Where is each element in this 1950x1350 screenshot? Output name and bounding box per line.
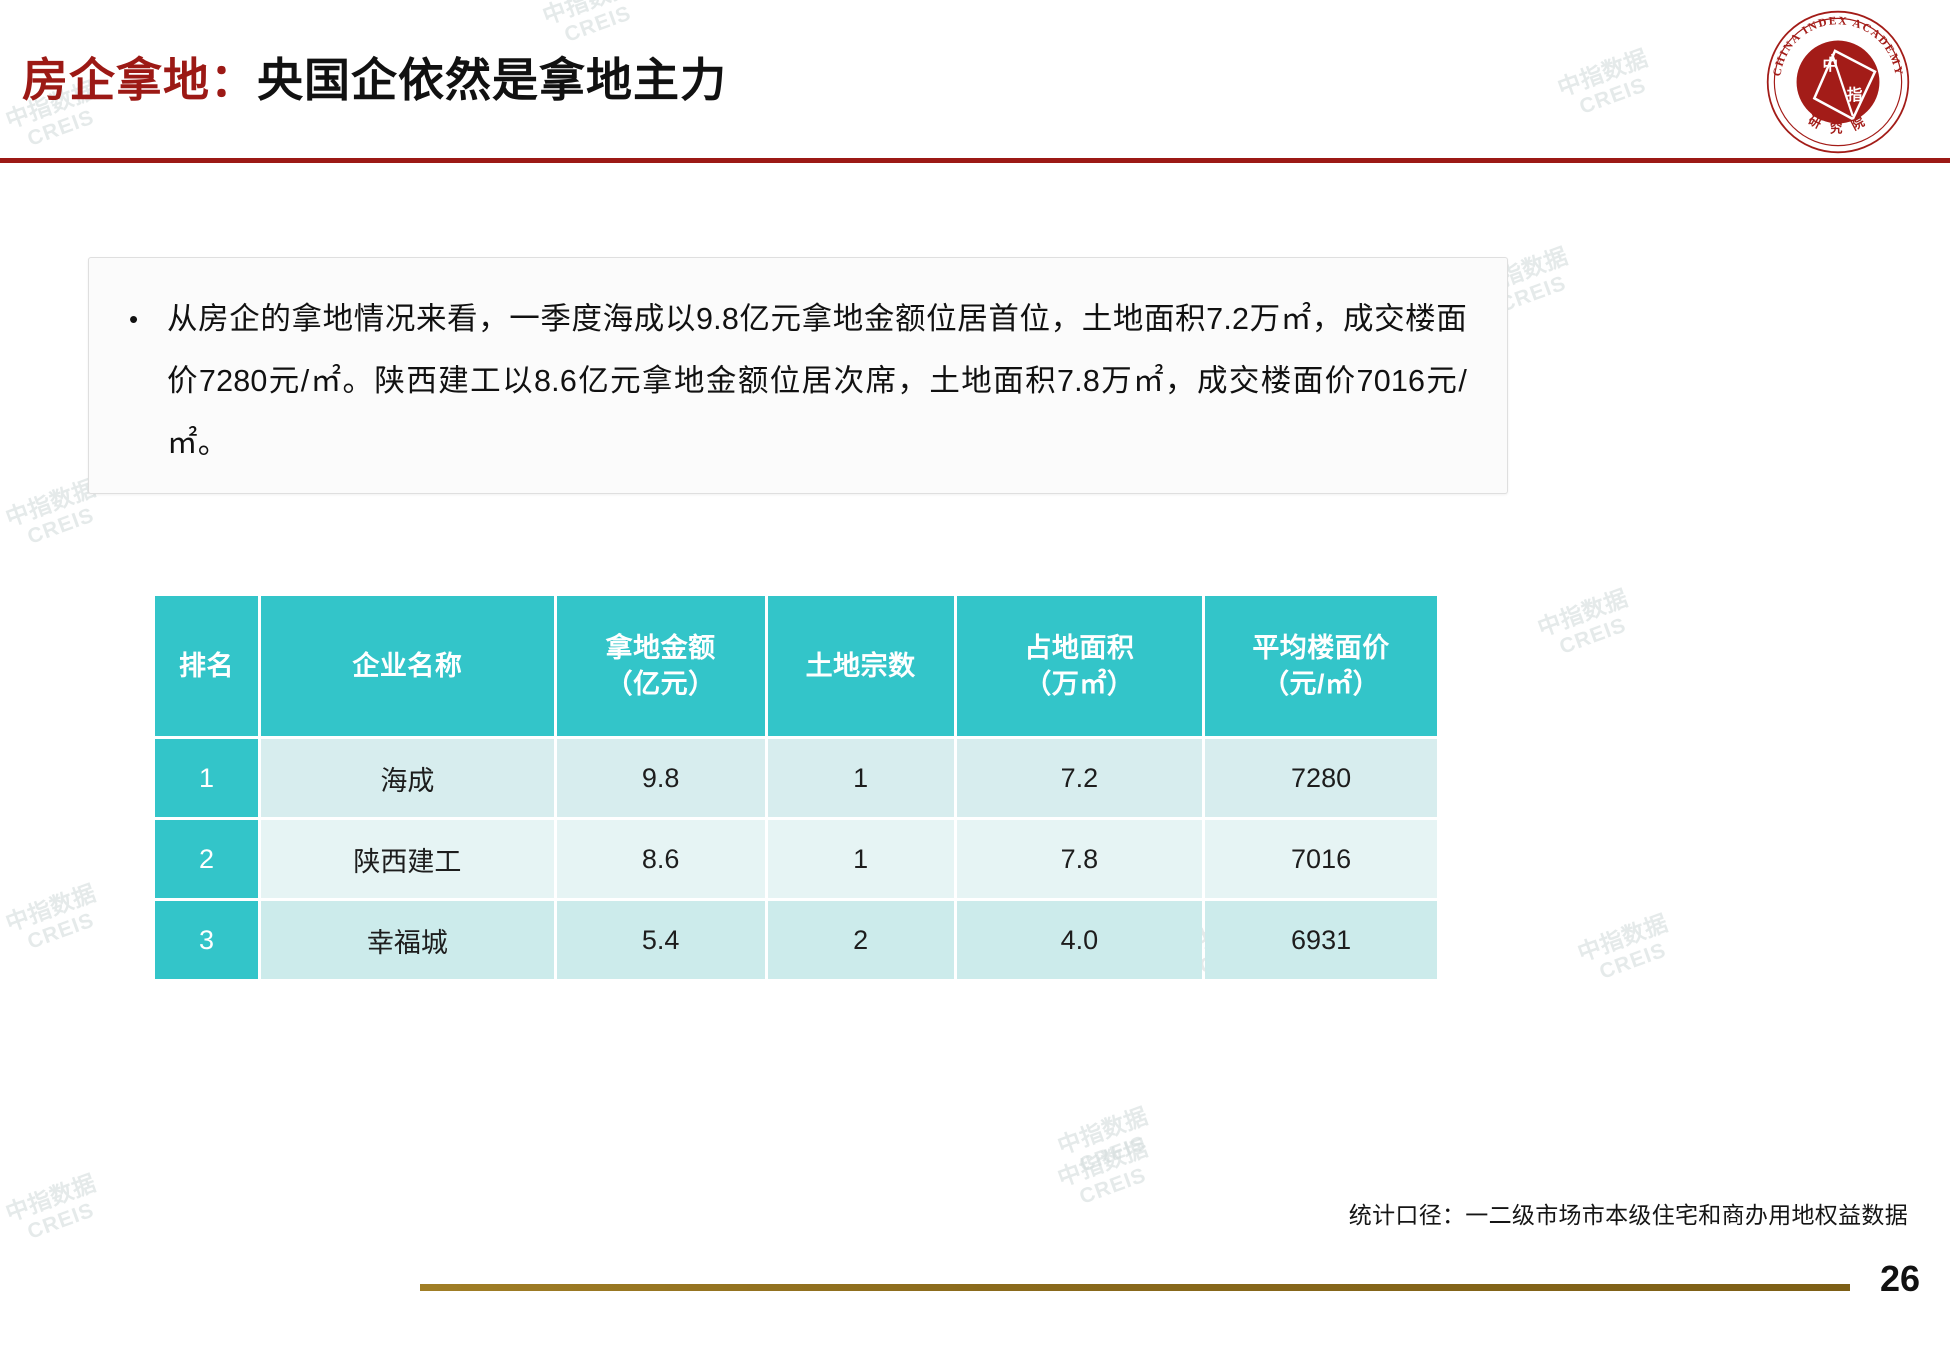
cell-rank: 1 xyxy=(155,739,258,817)
column-header-lots: 土地宗数 xyxy=(768,596,954,736)
watermark: 中指数据CREIS xyxy=(2,1170,107,1248)
summary-paragraph: 从房企的拿地情况来看，一季度海成以9.8亿元拿地金额位居首位，土地面积7.2万㎡… xyxy=(167,288,1467,474)
page-title-main: 央国企依然是拿地主力 xyxy=(257,54,727,106)
cell-amount: 5.4 xyxy=(557,901,765,979)
watermark: 中指数据CREIS xyxy=(1054,1135,1159,1213)
cell-amount: 9.8 xyxy=(557,739,765,817)
svg-text:中: 中 xyxy=(1822,55,1838,74)
column-header-amount-line2: （亿元） xyxy=(561,666,761,702)
statistics-scope-note: 统计口径：一二级市场市本级住宅和商办用地权益数据 xyxy=(1349,1196,1908,1230)
cell-area: 4.0 xyxy=(957,901,1203,979)
column-header-area-line1: 占地面积 xyxy=(1024,633,1134,663)
cell-avg-floor-price: 6931 xyxy=(1205,901,1437,979)
column-header-amount-line1: 拿地金额 xyxy=(606,633,716,663)
column-header-avg-floor-price: 平均楼面价 （元/㎡） xyxy=(1205,596,1437,736)
slide-root: 房企拿地：央国企依然是拿地主力 CHINA INDEX ACADEMY 研 究 … xyxy=(0,0,1950,1350)
watermark: 中指数据CREIS xyxy=(1554,45,1659,123)
table-body: 1 海成 9.8 1 7.2 7280 2 陕西建工 8.6 1 7.8 701… xyxy=(155,739,1437,979)
column-header-area: 占地面积 （万㎡） xyxy=(957,596,1203,736)
table-header: 排名 企业名称 拿地金额 （亿元） 土地宗数 占地面积 （万㎡） 平均楼面价 xyxy=(155,596,1437,736)
watermark: 中指数据CREIS xyxy=(2,880,107,958)
cell-rank: 2 xyxy=(155,820,258,898)
watermark: 中指数据CREIS xyxy=(1534,585,1639,663)
cell-avg-floor-price: 7016 xyxy=(1205,820,1437,898)
cell-company: 海成 xyxy=(261,739,554,817)
china-index-academy-logo: CHINA INDEX ACADEMY 研 究 院 中 指 xyxy=(1764,8,1912,156)
column-header-rank: 排名 xyxy=(155,596,258,736)
cell-rank: 3 xyxy=(155,901,258,979)
page-title: 房企拿地：央国企依然是拿地主力 xyxy=(22,44,727,110)
footer-divider xyxy=(420,1284,1850,1291)
page-title-highlight: 房企拿地： xyxy=(22,54,257,106)
column-header-avg-floor-price-line1: 平均楼面价 xyxy=(1252,633,1390,663)
column-header-lots-line1: 土地宗数 xyxy=(806,651,916,681)
page-number: 26 xyxy=(1880,1258,1920,1300)
column-header-rank-line1: 排名 xyxy=(179,651,234,681)
column-header-company: 企业名称 xyxy=(261,596,554,736)
cell-lots: 1 xyxy=(768,820,954,898)
watermark: 中指数据CREIS xyxy=(1574,910,1679,988)
header-divider xyxy=(0,158,1950,163)
cell-lots: 1 xyxy=(768,739,954,817)
table-row: 1 海成 9.8 1 7.2 7280 xyxy=(155,739,1437,817)
table-header-row: 排名 企业名称 拿地金额 （亿元） 土地宗数 占地面积 （万㎡） 平均楼面价 xyxy=(155,596,1437,736)
cell-amount: 8.6 xyxy=(557,820,765,898)
cell-lots: 2 xyxy=(768,901,954,979)
watermark: 中指数据CREIS xyxy=(1054,1103,1159,1181)
cell-area: 7.2 xyxy=(957,739,1203,817)
land-acquisition-table: 排名 企业名称 拿地金额 （亿元） 土地宗数 占地面积 （万㎡） 平均楼面价 xyxy=(152,593,1440,982)
table-row: 2 陕西建工 8.6 1 7.8 7016 xyxy=(155,820,1437,898)
cell-avg-floor-price: 7280 xyxy=(1205,739,1437,817)
svg-text:指: 指 xyxy=(1847,85,1863,104)
bullet-marker: • xyxy=(123,288,167,474)
table-row: 3 幸福城 5.4 2 4.0 6931 xyxy=(155,901,1437,979)
column-header-company-line1: 企业名称 xyxy=(352,651,462,681)
cell-area: 7.8 xyxy=(957,820,1203,898)
summary-callout-box: • 从房企的拿地情况来看，一季度海成以9.8亿元拿地金额位居首位，土地面积7.2… xyxy=(88,257,1508,494)
cell-company: 幸福城 xyxy=(261,901,554,979)
cell-company: 陕西建工 xyxy=(261,820,554,898)
column-header-area-line2: （万㎡） xyxy=(961,666,1199,702)
column-header-avg-floor-price-line2: （元/㎡） xyxy=(1209,666,1433,702)
column-header-amount: 拿地金额 （亿元） xyxy=(557,596,765,736)
